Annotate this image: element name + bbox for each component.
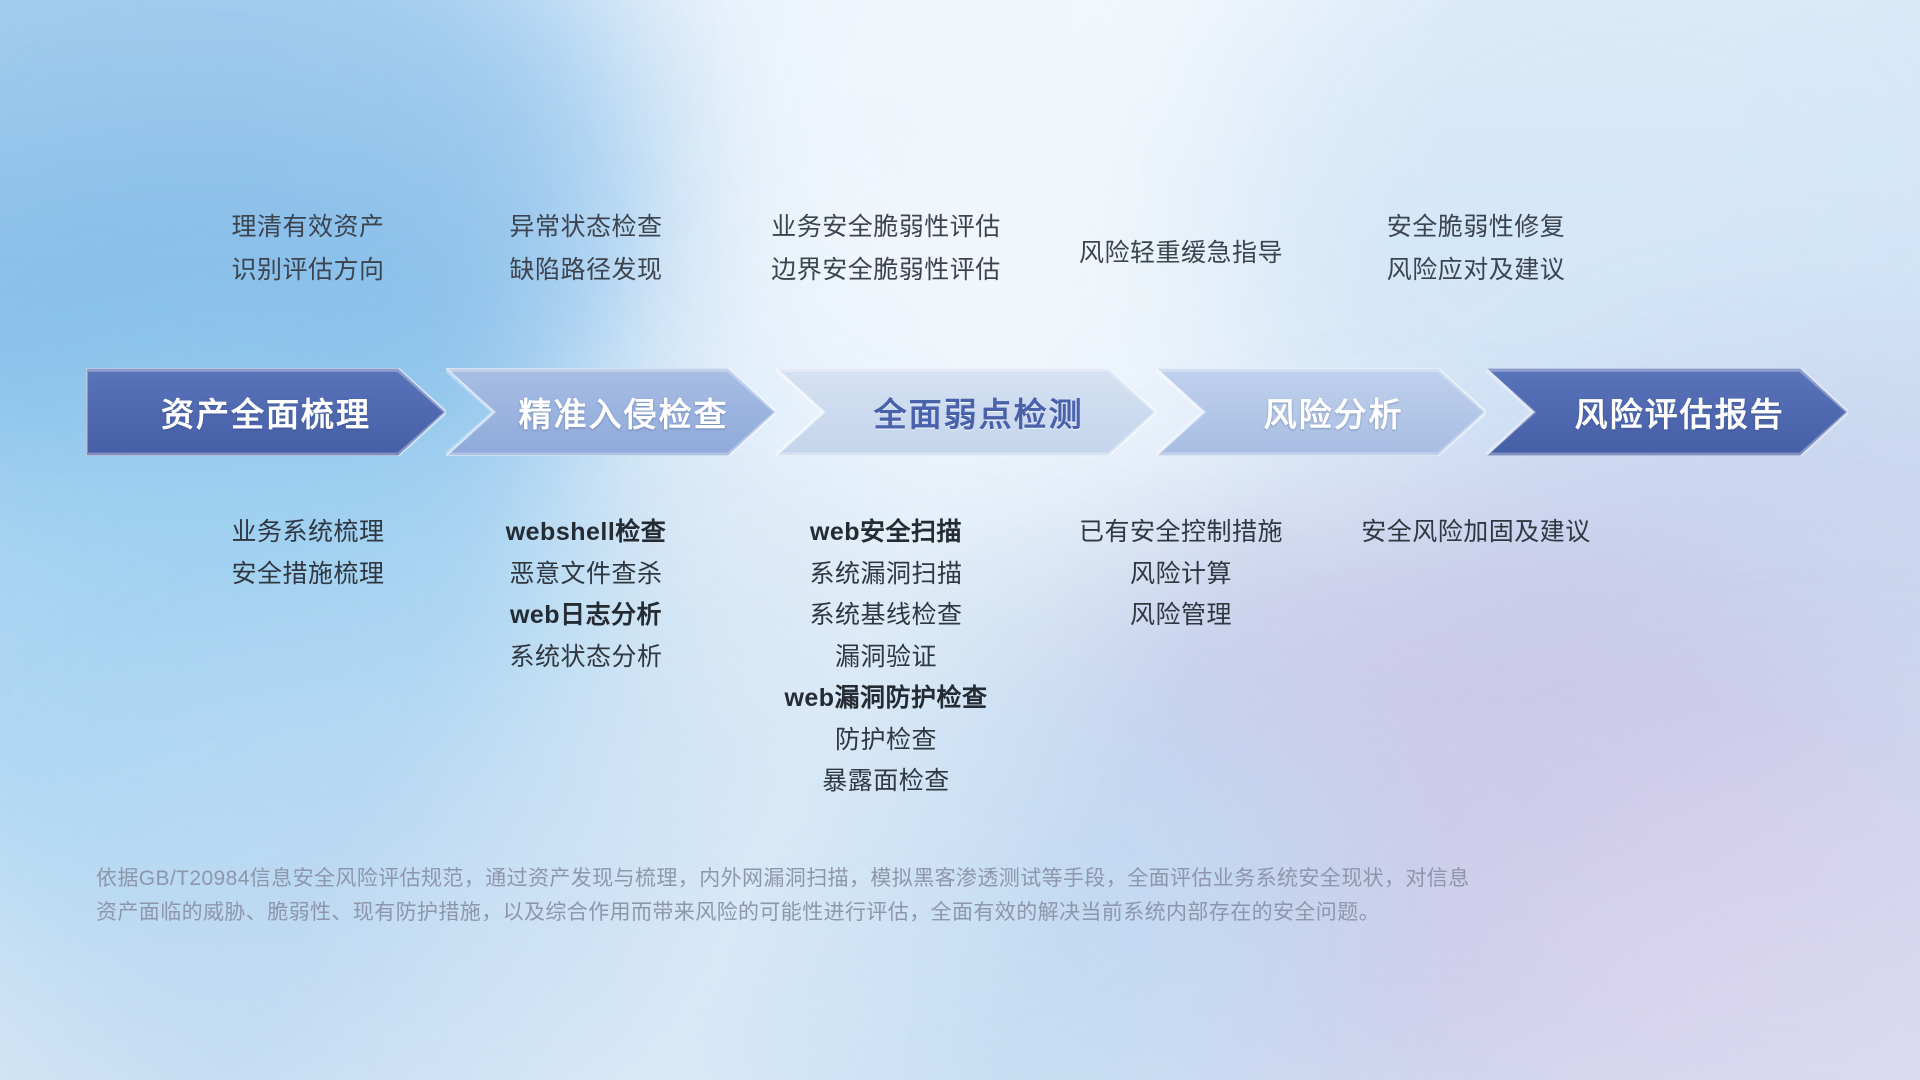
chevron-label-risk-report: 风险评估报告 bbox=[1575, 388, 1785, 436]
chevron-risk-analysis[interactable]: 风险分析 bbox=[1156, 368, 1486, 456]
chevron-risk-report[interactable]: 风险评估报告 bbox=[1486, 368, 1848, 456]
process-diagram: 理清有效资产识别评估方向 异常状态检查缺陷路径发现 业务安全脆弱性评估边界安全脆… bbox=[0, 0, 1920, 1080]
stage-item: 漏洞验证 bbox=[666, 637, 1106, 679]
footer-description: 依据GB/T20984信息安全风险评估规范，通过资产发现与梳理，内外网漏洞扫描，… bbox=[96, 862, 1596, 930]
chevron-label-weakness-detection: 全面弱点检测 bbox=[874, 388, 1084, 436]
top-note: 安全脆弱性修复 bbox=[1256, 206, 1696, 249]
stage-items-risk-report: 安全风险加固及建议 bbox=[1256, 512, 1696, 554]
stage-top-notes-risk-report: 安全脆弱性修复风险应对及建议 bbox=[1256, 206, 1696, 292]
chevron-intrusion-check[interactable]: 精准入侵检查 bbox=[446, 368, 776, 456]
stage-item: web漏洞防护检查 bbox=[666, 678, 1106, 720]
chevron-label-intrusion-check: 精准入侵检查 bbox=[519, 388, 729, 436]
stage-item: 安全风险加固及建议 bbox=[1256, 512, 1696, 554]
stage-item: 风险计算 bbox=[961, 554, 1401, 596]
stage-item: 暴露面检查 bbox=[666, 761, 1106, 803]
chevron-label-risk-analysis: 风险分析 bbox=[1264, 388, 1404, 436]
stage-item: 风险管理 bbox=[961, 595, 1401, 637]
top-note: 风险应对及建议 bbox=[1256, 249, 1696, 292]
footer-line-1: 依据GB/T20984信息安全风险评估规范，通过资产发现与梳理，内外网漏洞扫描，… bbox=[96, 862, 1596, 896]
chevron-asset-inventory[interactable]: 资产全面梳理 bbox=[86, 368, 446, 456]
process-chevron-band: 资产全面梳理精准入侵检查全面弱点检测风险分析风险评估报告 bbox=[86, 368, 1848, 456]
chevron-label-asset-inventory: 资产全面梳理 bbox=[161, 388, 371, 436]
stage-item: 防护检查 bbox=[666, 720, 1106, 762]
chevron-weakness-detection[interactable]: 全面弱点检测 bbox=[776, 368, 1156, 456]
footer-line-2: 资产面临的威胁、脆弱性、现有防护措施，以及综合作用而带来风险的可能性进行评估，全… bbox=[96, 896, 1596, 930]
